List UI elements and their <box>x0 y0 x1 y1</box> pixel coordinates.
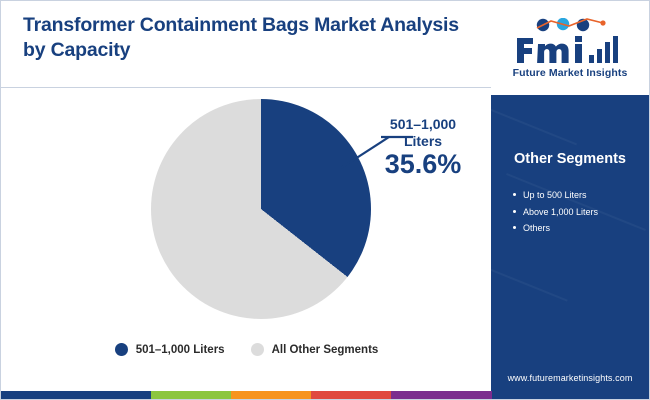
list-item: Others <box>513 220 643 237</box>
bar-segment <box>151 391 231 399</box>
logo-subtitle: Future Market Insights <box>513 67 628 79</box>
highlight-segment-name-line2: Liters <box>404 133 442 149</box>
title-line-1: Transformer Containment Bags Market <box>23 14 376 36</box>
fmi-logo-icon <box>511 18 629 64</box>
bar-segment <box>492 391 650 399</box>
website-url[interactable]: www.futuremarketinsights.com <box>491 373 649 383</box>
bar-segment <box>231 391 311 399</box>
highlight-segment-name: 501–1,000 Liters <box>363 116 483 149</box>
sidebar: Future Market Insights Other Segments Up… <box>491 1 649 393</box>
highlight-label: 501–1,000 Liters 35.6% <box>363 116 483 180</box>
infographic-card: Transformer Containment Bags Market Anal… <box>0 0 650 400</box>
list-item: Above 1,000 Liters <box>513 204 643 221</box>
pie-slices <box>151 99 371 319</box>
legend-item: All Other Segments <box>251 343 379 356</box>
bar-segment <box>311 391 391 399</box>
title-divider <box>1 87 492 88</box>
other-segments-title: Other Segments <box>491 151 649 167</box>
legend-label: All Other Segments <box>272 344 379 356</box>
legend-swatch-icon <box>115 343 128 356</box>
page-title: Transformer Containment Bags Market Anal… <box>23 13 473 63</box>
legend-swatch-icon <box>251 343 264 356</box>
bottom-color-bar <box>1 391 650 399</box>
bar-segment <box>1 391 151 399</box>
fmi-logo: Future Market Insights <box>491 1 649 95</box>
highlight-segment-value: 35.6% <box>363 150 483 180</box>
legend-label: 501–1,000 Liters <box>136 344 225 356</box>
pie-chart <box>151 99 371 319</box>
highlight-segment-name-line1: 501–1,000 <box>390 116 456 132</box>
bar-segment <box>391 391 492 399</box>
list-item: Up to 500 Liters <box>513 187 643 204</box>
chart-panel: Transformer Containment Bags Market Anal… <box>1 1 492 393</box>
chart-legend: 501–1,000 Liters All Other Segments <box>1 343 492 356</box>
legend-item: 501–1,000 Liters <box>115 343 225 356</box>
other-segments-list: Up to 500 Liters Above 1,000 Liters Othe… <box>513 187 643 237</box>
